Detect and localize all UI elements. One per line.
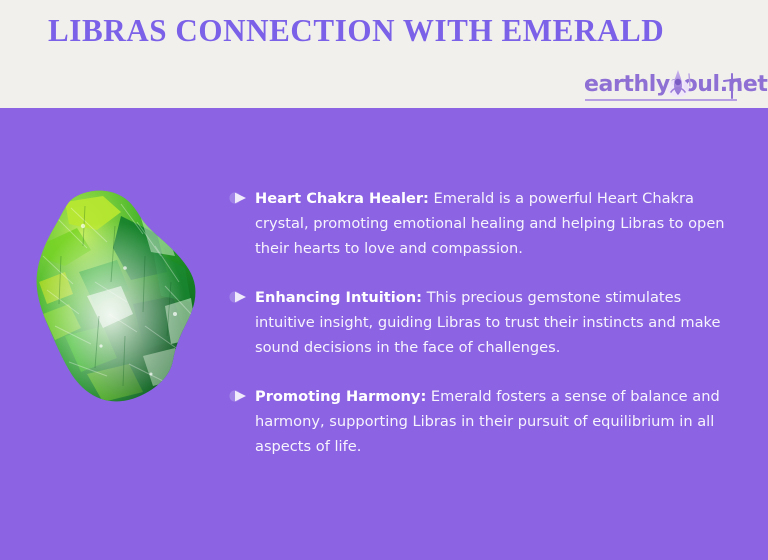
list-item: Heart Chakra Healer: Emerald is a powerf…: [229, 186, 734, 261]
arrow-circle-right-icon: [229, 190, 249, 206]
arrow-circle-right-icon: [229, 388, 249, 404]
list-item-title: Heart Chakra Healer:: [255, 190, 429, 207]
benefits-list: Heart Chakra Healer: Emerald is a powerf…: [229, 186, 734, 459]
content-area: Heart Chakra Healer: Emerald is a powerf…: [0, 108, 768, 560]
list-item-title: Promoting Harmony:: [255, 388, 426, 405]
page-title: LIBRAS CONNECTION WITH EMERALD: [48, 13, 664, 48]
infographic-slide: LIBRAS CONNECTION WITH EMERALD earthlyso…: [0, 0, 768, 560]
emerald-crystal-graphic: [25, 186, 215, 421]
logo-wordmark: earthlysoul.net: [584, 72, 768, 97]
list-item-title: Enhancing Intuition:: [255, 289, 422, 306]
logo-underline: [585, 99, 737, 101]
site-logo[interactable]: earthlysoul.net: [584, 72, 746, 106]
arrow-circle-right-icon: [229, 289, 249, 305]
emerald-crystal-image: [25, 186, 215, 421]
list-item: Promoting Harmony: Emerald fosters a sen…: [229, 384, 734, 459]
list-item: Enhancing Intuition: This precious gemst…: [229, 285, 734, 360]
header-bar: LIBRAS CONNECTION WITH EMERALD earthlyso…: [0, 0, 768, 108]
